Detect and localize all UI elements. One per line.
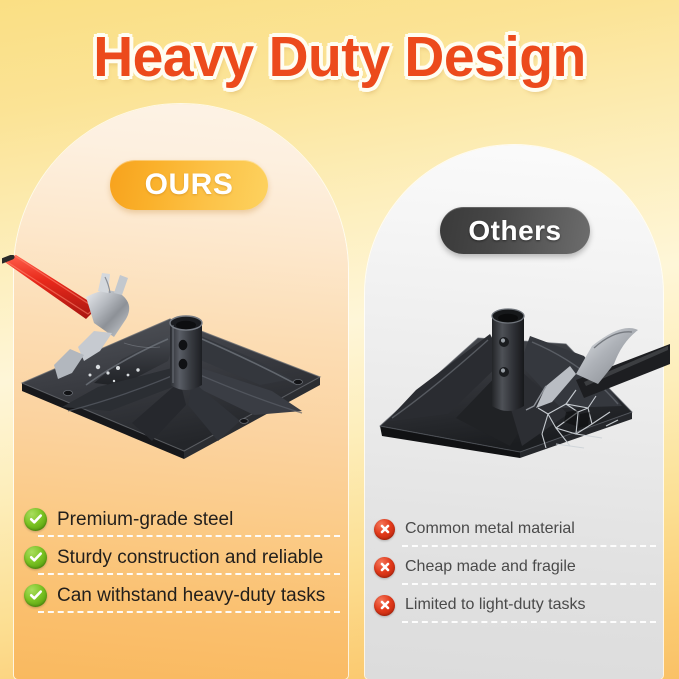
- feature-text: Premium-grade steel: [57, 510, 233, 529]
- x-circle-icon: [374, 595, 395, 616]
- others-badge: Others: [440, 207, 590, 254]
- divider: [402, 545, 656, 547]
- page-title: Heavy Duty Design: [10, 24, 669, 90]
- feature-text: Limited to light-duty tasks: [405, 597, 586, 613]
- divider: [38, 573, 340, 575]
- feature-text: Cheap made and fragile: [405, 559, 576, 575]
- divider: [38, 611, 340, 613]
- check-circle-icon: [24, 508, 47, 531]
- list-item: Can withstand heavy-duty tasks: [24, 576, 340, 614]
- divider: [402, 621, 656, 623]
- check-circle-icon: [24, 584, 47, 607]
- list-item: Sturdy construction and reliable: [24, 538, 340, 576]
- ours-feature-list: Premium-grade steel Sturdy construction …: [24, 500, 340, 614]
- x-circle-icon: [374, 519, 395, 540]
- divider: [402, 583, 656, 585]
- x-circle-icon: [374, 557, 395, 578]
- ours-product-photo: [2, 255, 338, 460]
- list-item: Limited to light-duty tasks: [374, 586, 656, 624]
- others-product-photo: [370, 286, 670, 461]
- feature-text: Can withstand heavy-duty tasks: [57, 586, 325, 605]
- list-item: Cheap made and fragile: [374, 548, 656, 586]
- others-badge-label: Others: [468, 215, 561, 247]
- list-item: Common metal material: [374, 510, 656, 548]
- feature-text: Sturdy construction and reliable: [57, 548, 323, 567]
- ours-badge-label: OURS: [145, 168, 234, 202]
- divider: [38, 535, 340, 537]
- others-feature-list: Common metal material Cheap made and fra…: [374, 510, 656, 624]
- ours-badge: OURS: [110, 160, 268, 210]
- list-item: Premium-grade steel: [24, 500, 340, 538]
- feature-text: Common metal material: [405, 521, 575, 537]
- infographic-root: Heavy Duty Design OURS Others: [0, 0, 679, 679]
- check-circle-icon: [24, 546, 47, 569]
